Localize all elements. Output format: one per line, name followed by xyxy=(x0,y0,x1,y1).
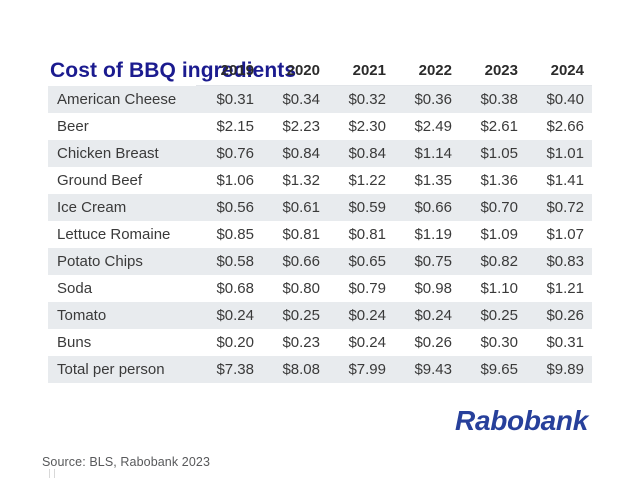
column-header-label: 2023 xyxy=(460,62,526,79)
cell-value: $0.24 xyxy=(196,302,262,329)
cell-value: $1.05 xyxy=(460,140,526,167)
cell-value: $2.15 xyxy=(196,113,262,140)
cell-value: $0.59 xyxy=(328,194,394,221)
cell-value: $0.81 xyxy=(262,221,328,248)
column-header-2021: 2021 xyxy=(328,62,394,86)
cell-value: $1.14 xyxy=(394,140,460,167)
cell-value: $0.30 xyxy=(460,329,526,356)
cell-value: $0.40 xyxy=(526,86,592,114)
scan-artifact xyxy=(49,469,61,478)
table-corner-header xyxy=(48,62,196,86)
cell-value: $0.58 xyxy=(196,248,262,275)
cell-value: $2.30 xyxy=(328,113,394,140)
cell-value: $0.38 xyxy=(460,86,526,114)
row-label: Total per person xyxy=(48,356,196,383)
row-label: Soda xyxy=(48,275,196,302)
row-label: Beer xyxy=(48,113,196,140)
column-header-label: 2022 xyxy=(394,62,460,79)
cell-value: $9.65 xyxy=(460,356,526,383)
cell-value: $7.38 xyxy=(196,356,262,383)
row-label: Ground Beef xyxy=(48,167,196,194)
cell-value: $0.84 xyxy=(328,140,394,167)
column-header-2024: 2024 xyxy=(526,62,592,86)
table-row: Potato Chips$0.58$0.66$0.65$0.75$0.82$0.… xyxy=(48,248,592,275)
cell-value: $0.84 xyxy=(262,140,328,167)
table-row: Beer$2.15$2.23$2.30$2.49$2.61$2.66 xyxy=(48,113,592,140)
row-label: American Cheese xyxy=(48,86,196,114)
cell-value: $0.34 xyxy=(262,86,328,114)
row-label: Chicken Breast xyxy=(48,140,196,167)
table-header: 2019 2020 2021 2022 2023 2024 xyxy=(48,62,592,86)
cell-value: $1.01 xyxy=(526,140,592,167)
row-label: Buns xyxy=(48,329,196,356)
cell-value: $0.25 xyxy=(460,302,526,329)
column-header-2020: 2020 xyxy=(262,62,328,86)
cell-value: $9.43 xyxy=(394,356,460,383)
cell-value: $0.82 xyxy=(460,248,526,275)
cell-value: $1.07 xyxy=(526,221,592,248)
cell-value: $0.81 xyxy=(328,221,394,248)
cell-value: $0.76 xyxy=(196,140,262,167)
cell-value: $0.98 xyxy=(394,275,460,302)
cell-value: $0.83 xyxy=(526,248,592,275)
cell-value: $0.24 xyxy=(328,302,394,329)
column-header-label: 2024 xyxy=(526,62,592,79)
cell-value: $0.26 xyxy=(526,302,592,329)
cell-value: $1.32 xyxy=(262,167,328,194)
source-note: Source: BLS, Rabobank 2023 xyxy=(42,455,210,469)
cell-value: $0.26 xyxy=(394,329,460,356)
table-row: Ground Beef$1.06$1.32$1.22$1.35$1.36$1.4… xyxy=(48,167,592,194)
cell-value: $0.24 xyxy=(394,302,460,329)
row-label: Tomato xyxy=(48,302,196,329)
table-row: American Cheese$0.31$0.34$0.32$0.36$0.38… xyxy=(48,86,592,114)
row-label: Lettuce Romaine xyxy=(48,221,196,248)
row-label: Ice Cream xyxy=(48,194,196,221)
cell-value: $0.31 xyxy=(196,86,262,114)
column-header-2023: 2023 xyxy=(460,62,526,86)
cell-value: $0.66 xyxy=(394,194,460,221)
cell-value: $2.23 xyxy=(262,113,328,140)
cell-value: $2.66 xyxy=(526,113,592,140)
table-row: Buns$0.20$0.23$0.24$0.26$0.30$0.31 xyxy=(48,329,592,356)
cost-table: 2019 2020 2021 2022 2023 2024 American C… xyxy=(48,62,592,383)
cell-value: $8.08 xyxy=(262,356,328,383)
cell-value: $1.22 xyxy=(328,167,394,194)
row-label: Potato Chips xyxy=(48,248,196,275)
cell-value: $1.21 xyxy=(526,275,592,302)
cell-value: $0.56 xyxy=(196,194,262,221)
cell-value: $0.72 xyxy=(526,194,592,221)
cell-value: $0.23 xyxy=(262,329,328,356)
table-row: Lettuce Romaine$0.85$0.81$0.81$1.19$1.09… xyxy=(48,221,592,248)
cell-value: $1.19 xyxy=(394,221,460,248)
table-row: Tomato$0.24$0.25$0.24$0.24$0.25$0.26 xyxy=(48,302,592,329)
cell-value: $9.89 xyxy=(526,356,592,383)
cell-value: $0.79 xyxy=(328,275,394,302)
cell-value: $1.10 xyxy=(460,275,526,302)
column-header-2022: 2022 xyxy=(394,62,460,86)
cell-value: $1.09 xyxy=(460,221,526,248)
table-row: Chicken Breast$0.76$0.84$0.84$1.14$1.05$… xyxy=(48,140,592,167)
column-header-2019: 2019 xyxy=(196,62,262,86)
table-row: Total per person$7.38$8.08$7.99$9.43$9.6… xyxy=(48,356,592,383)
cell-value: $0.65 xyxy=(328,248,394,275)
cell-value: $1.41 xyxy=(526,167,592,194)
column-header-label: 2021 xyxy=(328,62,394,79)
cell-value: $0.85 xyxy=(196,221,262,248)
table-body: American Cheese$0.31$0.34$0.32$0.36$0.38… xyxy=(48,86,592,384)
column-header-label: 2020 xyxy=(262,62,328,79)
cell-value: $0.75 xyxy=(394,248,460,275)
cell-value: $0.70 xyxy=(460,194,526,221)
cell-value: $1.06 xyxy=(196,167,262,194)
column-header-label: 2019 xyxy=(196,62,262,79)
cell-value: $0.66 xyxy=(262,248,328,275)
cell-value: $0.31 xyxy=(526,329,592,356)
cell-value: $2.61 xyxy=(460,113,526,140)
cell-value: $0.32 xyxy=(328,86,394,114)
table-header-row: 2019 2020 2021 2022 2023 2024 xyxy=(48,62,592,86)
cell-value: $7.99 xyxy=(328,356,394,383)
cell-value: $0.68 xyxy=(196,275,262,302)
cell-value: $0.20 xyxy=(196,329,262,356)
cell-value: $0.25 xyxy=(262,302,328,329)
cell-value: $0.24 xyxy=(328,329,394,356)
rabobank-logo: Rabobank xyxy=(455,405,588,437)
cell-value: $1.35 xyxy=(394,167,460,194)
cell-value: $1.36 xyxy=(460,167,526,194)
table-row: Soda$0.68$0.80$0.79$0.98$1.10$1.21 xyxy=(48,275,592,302)
cell-value: $0.80 xyxy=(262,275,328,302)
cell-value: $0.36 xyxy=(394,86,460,114)
cell-value: $0.61 xyxy=(262,194,328,221)
cell-value: $2.49 xyxy=(394,113,460,140)
table-row: Ice Cream$0.56$0.61$0.59$0.66$0.70$0.72 xyxy=(48,194,592,221)
